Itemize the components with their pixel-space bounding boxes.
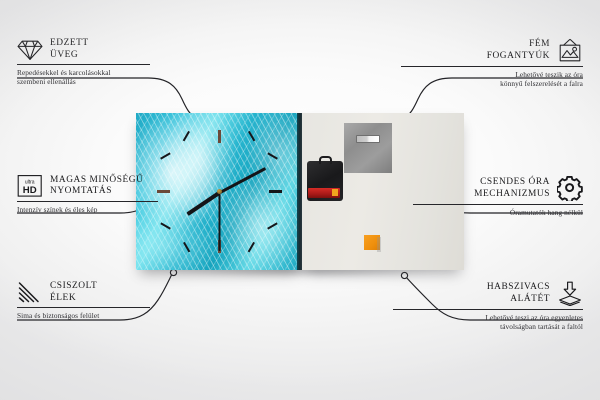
feature-header: HABSZIVACS ALÁTÉT bbox=[393, 281, 583, 306]
feature-header: FÉM FOGANTYÚK bbox=[401, 38, 583, 63]
mechanism-hanging-loop bbox=[319, 156, 332, 164]
feature-description: Lehetővé teszik az óra könnyű felszerelé… bbox=[401, 70, 583, 89]
gear-icon bbox=[557, 176, 583, 201]
feature-metal-hangers: FÉM FOGANTYÚK Lehetővé teszik az óra kön… bbox=[401, 38, 583, 89]
feature-polished-edges: CSISZOLT ÉLEK Sima és biztonságos felüle… bbox=[17, 281, 185, 320]
feature-title: CSISZOLT ÉLEK bbox=[50, 281, 97, 304]
hanging-picture-icon bbox=[557, 38, 583, 63]
feature-description: Óramutatók hang nélkül bbox=[413, 208, 583, 217]
feature-description: Repedésekkel és karcolásokkal szembeni e… bbox=[17, 68, 185, 87]
feature-header: EDZETT ÜVEG bbox=[17, 38, 185, 61]
feature-foam-pad: HABSZIVACS ALÁTÉT Lehetővé teszi az óra … bbox=[393, 281, 583, 332]
clock-tick bbox=[218, 130, 221, 143]
battery bbox=[308, 188, 340, 198]
clock-center-pivot bbox=[217, 189, 222, 194]
feature-divider bbox=[393, 309, 583, 310]
foam-pad bbox=[364, 235, 380, 250]
clock-tick bbox=[269, 190, 282, 193]
feature-header: CSENDES ÓRA MECHANIZMUS bbox=[413, 176, 583, 201]
feature-description: Lehetővé teszi az óra egyenletes távolsá… bbox=[393, 313, 583, 332]
feature-high-quality-print: ultra HD MAGAS MINŐSÉGŰ NYOMTATÁS Intenz… bbox=[17, 174, 189, 214]
feature-title: FÉM FOGANTYÚK bbox=[487, 39, 550, 62]
feature-title: EDZETT ÜVEG bbox=[50, 38, 89, 61]
clock-second-hand bbox=[219, 193, 221, 251]
feature-divider bbox=[413, 204, 583, 205]
feature-description: Intenzív színek és éles kép bbox=[17, 205, 189, 214]
feature-header: CSISZOLT ÉLEK bbox=[17, 281, 185, 304]
feature-divider bbox=[17, 201, 158, 202]
feature-title: HABSZIVACS ALÁTÉT bbox=[487, 282, 550, 305]
polished-edge-icon bbox=[17, 281, 43, 304]
feature-divider bbox=[17, 64, 150, 65]
clock-mechanism-box bbox=[307, 161, 343, 201]
feature-silent-mechanism: CSENDES ÓRA MECHANIZMUS Óramutatók hang … bbox=[413, 176, 583, 217]
feature-divider bbox=[401, 66, 583, 67]
svg-text:HD: HD bbox=[23, 185, 37, 196]
metal-hanger-bracket bbox=[344, 123, 392, 173]
feature-description: Sima és biztonságos felület bbox=[17, 311, 185, 320]
feature-title: CSENDES ÓRA MECHANIZMUS bbox=[474, 177, 550, 200]
feature-header: ultra HD MAGAS MINŐSÉGŰ NYOMTATÁS bbox=[17, 174, 189, 198]
feature-tempered-glass: EDZETT ÜVEG Repedésekkel és karcolásokka… bbox=[17, 38, 185, 87]
press-down-layers-icon bbox=[557, 281, 583, 306]
product-feature-infographic: EDZETT ÜVEG Repedésekkel és karcolásokka… bbox=[0, 0, 600, 400]
feature-divider bbox=[17, 307, 150, 308]
feature-title: MAGAS MINŐSÉGŰ NYOMTATÁS bbox=[50, 175, 143, 198]
ultra-hd-icon: ultra HD bbox=[17, 174, 43, 198]
diamond-icon bbox=[17, 39, 43, 61]
